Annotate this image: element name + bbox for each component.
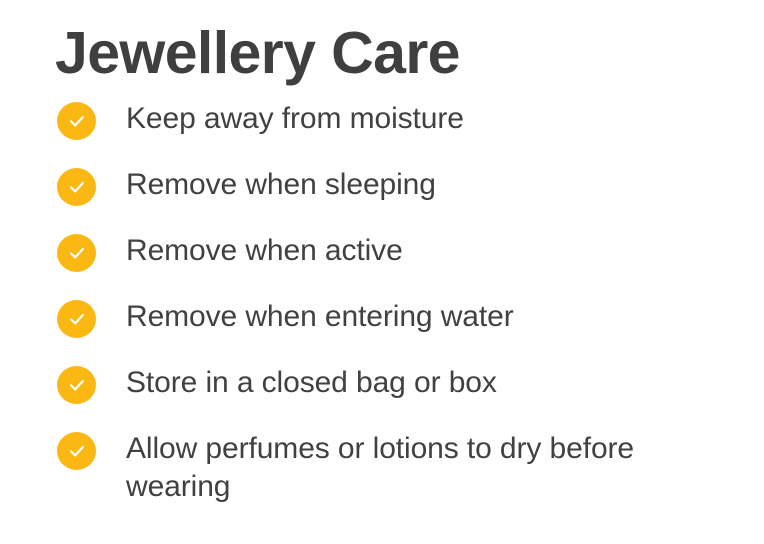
list-item: Allow perfumes or lotions to dry before … bbox=[0, 430, 764, 506]
list-item-label: Keep away from moisture bbox=[126, 100, 764, 138]
list-item: Remove when active bbox=[0, 232, 764, 272]
list-item: Store in a closed bag or box bbox=[0, 364, 764, 404]
list-item-label: Store in a closed bag or box bbox=[126, 364, 764, 402]
check-circle-icon bbox=[57, 234, 96, 272]
check-circle-icon bbox=[57, 366, 96, 404]
jewellery-care-card: Jewellery Care Keep away from moisture R… bbox=[0, 0, 764, 544]
list-item-label: Allow perfumes or lotions to dry before … bbox=[126, 430, 764, 506]
check-circle-icon bbox=[57, 432, 96, 470]
list-item-label: Remove when active bbox=[126, 232, 764, 270]
check-circle-icon bbox=[57, 102, 96, 140]
page-title: Jewellery Care bbox=[55, 17, 460, 89]
care-instruction-list: Keep away from moisture Remove when slee… bbox=[0, 100, 764, 506]
list-item: Remove when entering water bbox=[0, 298, 764, 338]
check-circle-icon bbox=[57, 168, 96, 206]
list-item: Remove when sleeping bbox=[0, 166, 764, 206]
list-item-label: Remove when sleeping bbox=[126, 166, 764, 204]
list-item: Keep away from moisture bbox=[0, 100, 764, 140]
check-circle-icon bbox=[57, 300, 96, 338]
list-item-label: Remove when entering water bbox=[126, 298, 764, 336]
